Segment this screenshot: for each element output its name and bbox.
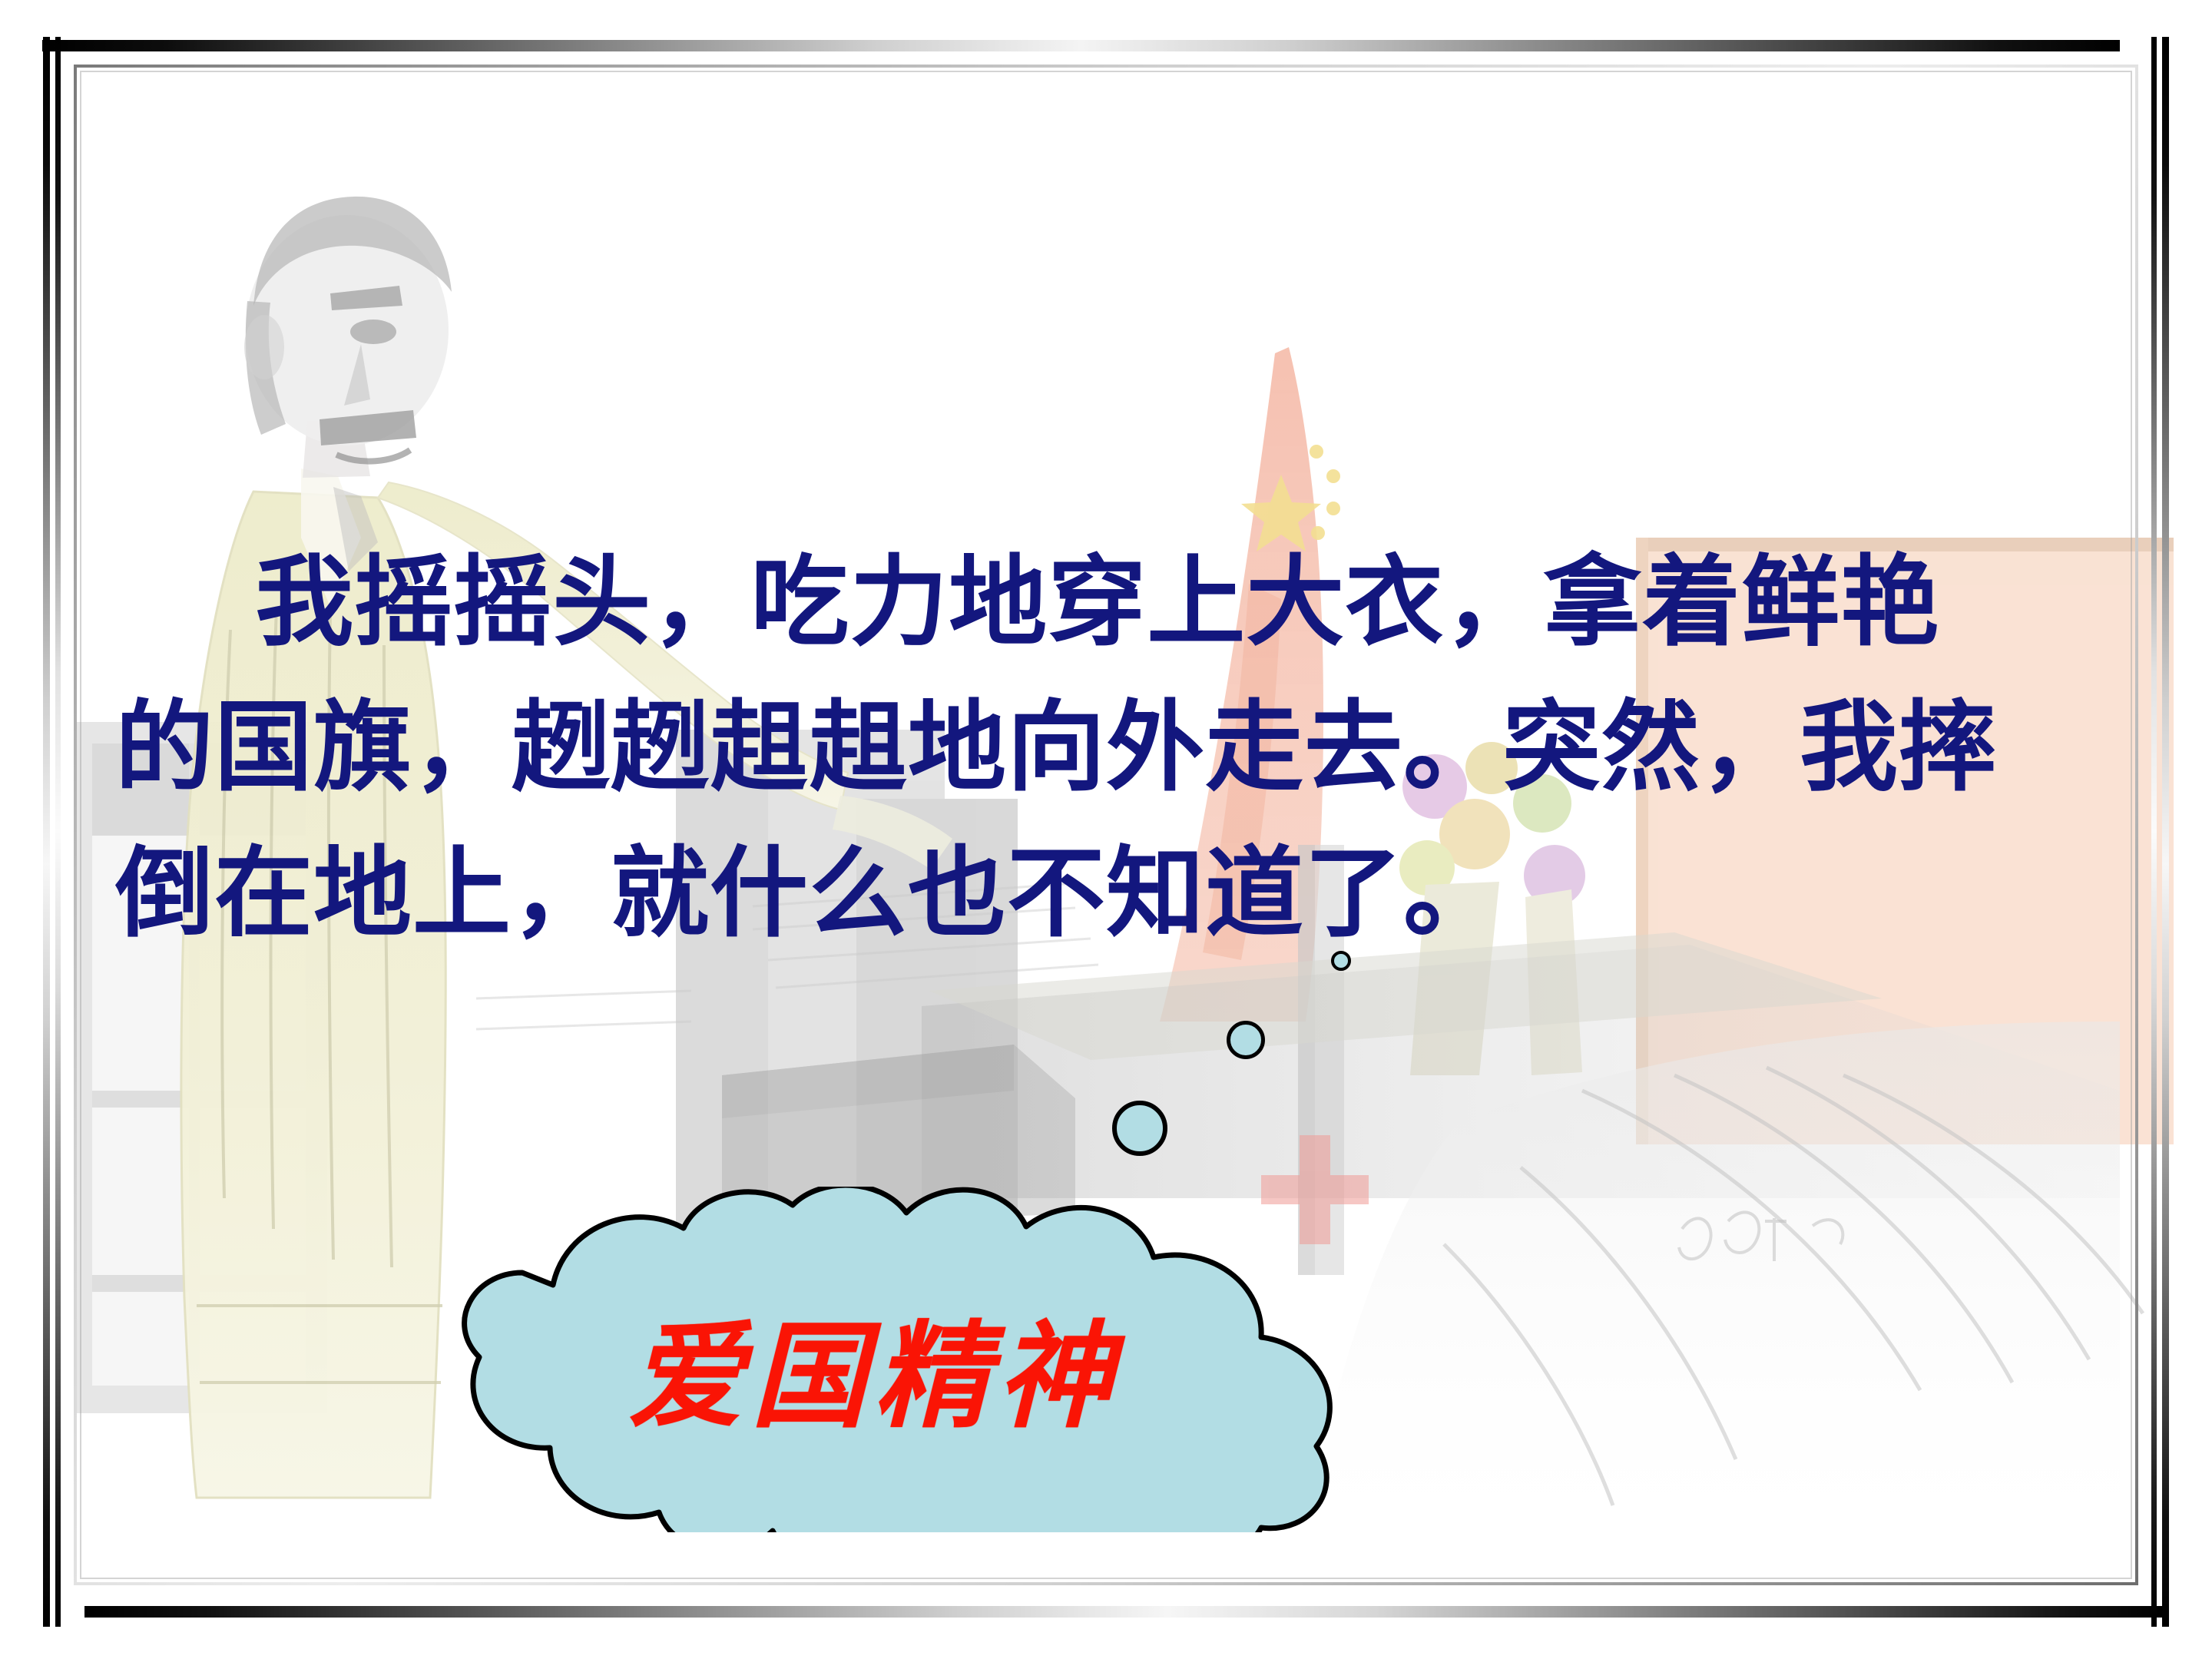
thought-bubble-small — [1331, 951, 1351, 971]
cloud-shape — [465, 1187, 1330, 1532]
thought-bubble-medium — [1227, 1021, 1265, 1059]
slide-canvas: 我摇摇头，吃力地穿上大衣，拿着鲜艳的国旗，趔趔趄趄地向外走去。突然，我摔倒在地上… — [0, 0, 2212, 1659]
thought-bubble-large — [1112, 1101, 1167, 1156]
slide-body-text: 我摇摇头，吃力地穿上大衣，拿着鲜艳的国旗，趔趔趄趄地向外走去。突然，我摔倒在地上… — [115, 530, 2020, 966]
cloud-callout: 爱国精神 — [323, 1187, 1421, 1532]
